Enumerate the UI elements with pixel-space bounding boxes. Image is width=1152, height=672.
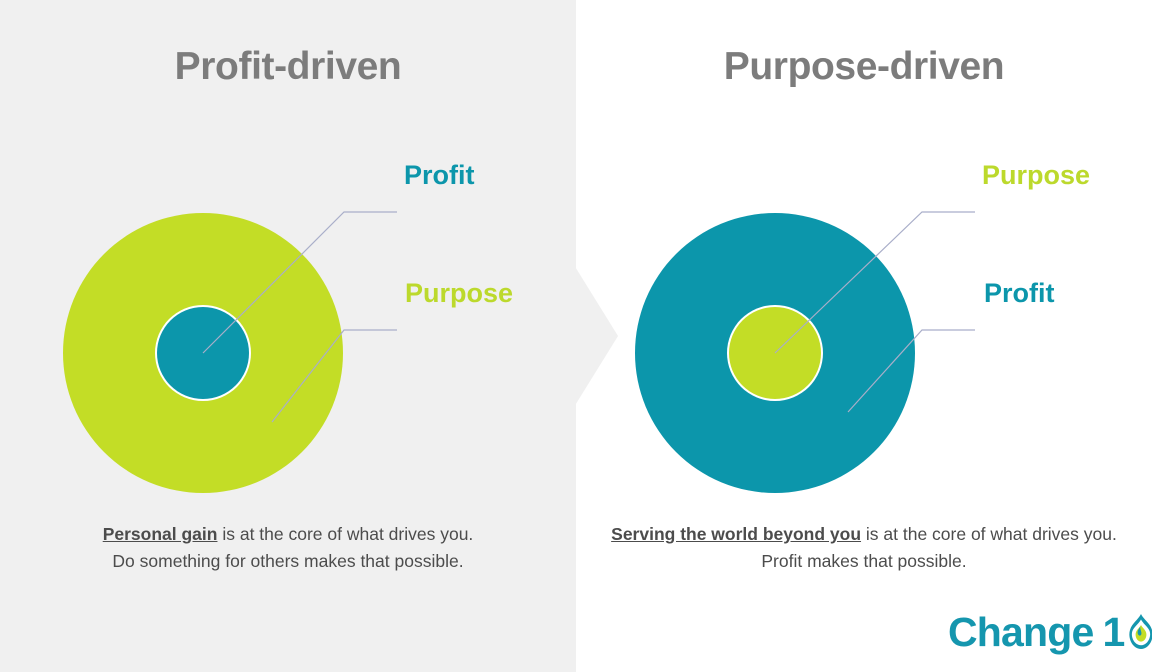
right-callout-purpose: Purpose	[982, 162, 1090, 189]
infographic-canvas: Profit-driven Purpose-driven Profit Purp…	[0, 0, 1152, 672]
logo-digit-one-left: 1	[1103, 612, 1125, 653]
left-callout-profit: Profit	[404, 162, 475, 189]
left-inner-core-profit	[157, 307, 249, 399]
right-callout-profit: Profit	[984, 280, 1055, 307]
right-caption-line-1-rest: is at the core of what drives you.	[861, 524, 1117, 544]
left-caption-line-1-rest: is at the core of what drives you.	[217, 524, 473, 544]
left-caption-line-1: Personal gain is at the core of what dri…	[0, 521, 576, 548]
flame-icon	[1126, 613, 1152, 651]
left-caption-lead: Personal gain	[103, 524, 218, 544]
right-caption-lead: Serving the world beyond you	[611, 524, 861, 544]
left-callout-purpose: Purpose	[405, 280, 513, 307]
left-caption-line-2: Do something for others makes that possi…	[0, 548, 576, 575]
left-caption: Personal gain is at the core of what dri…	[0, 521, 576, 574]
logo-wordmark: Change	[948, 612, 1094, 653]
right-inner-core-purpose	[729, 307, 821, 399]
right-caption-line-2: Profit makes that possible.	[576, 548, 1152, 575]
right-caption: Serving the world beyond you is at the c…	[576, 521, 1152, 574]
change101-logo: Change 1 1	[948, 606, 1152, 658]
right-caption-line-1: Serving the world beyond you is at the c…	[576, 521, 1152, 548]
